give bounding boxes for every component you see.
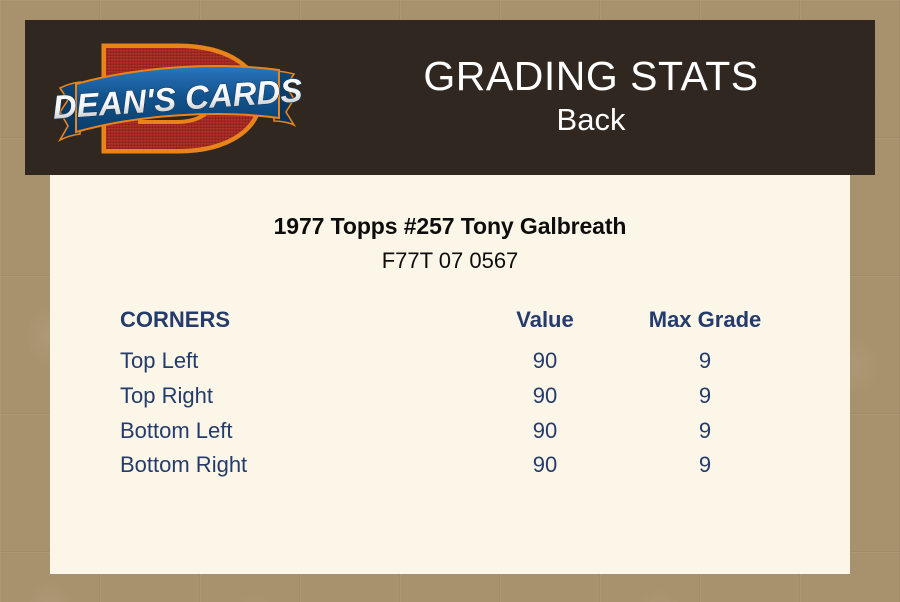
- row-label: Top Right: [120, 379, 460, 414]
- row-label: Top Left: [120, 344, 460, 379]
- row-value: 90: [460, 448, 630, 483]
- grading-stats-table: CORNERS Value Max Grade Top Left 90 9 To…: [120, 307, 780, 483]
- table-row: Top Left 90 9: [120, 344, 780, 379]
- table-header-row: CORNERS Value Max Grade: [120, 307, 780, 344]
- column-header-max-grade: Max Grade: [630, 307, 780, 344]
- deans-cards-logo: DEAN'S CARDS: [50, 26, 305, 171]
- header-title-group: GRADING STATS Back: [325, 20, 875, 175]
- page-title: GRADING STATS: [423, 55, 758, 98]
- table-row: Bottom Right 90 9: [120, 448, 780, 483]
- row-label: Bottom Left: [120, 414, 460, 449]
- table-row: Bottom Left 90 9: [120, 414, 780, 449]
- column-header-value: Value: [460, 307, 630, 344]
- content-panel: 1977 Topps #257 Tony Galbreath F77T 07 0…: [50, 175, 850, 574]
- row-max-grade: 9: [630, 379, 780, 414]
- card-title: 1977 Topps #257 Tony Galbreath: [50, 213, 850, 240]
- page-subtitle: Back: [557, 101, 626, 140]
- card-serial-number: F77T 07 0567: [50, 248, 850, 274]
- row-max-grade: 9: [630, 448, 780, 483]
- header-band: DEAN'S CARDS GRADING STATS Back: [25, 20, 875, 175]
- table-body: Top Left 90 9 Top Right 90 9 Bottom Left…: [120, 344, 780, 483]
- row-max-grade: 9: [630, 344, 780, 379]
- row-value: 90: [460, 379, 630, 414]
- row-value: 90: [460, 414, 630, 449]
- logo-graphic: DEAN'S CARDS: [50, 26, 305, 171]
- row-value: 90: [460, 344, 630, 379]
- column-header-section: CORNERS: [120, 307, 460, 344]
- table-row: Top Right 90 9: [120, 379, 780, 414]
- row-label: Bottom Right: [120, 448, 460, 483]
- row-max-grade: 9: [630, 414, 780, 449]
- table-header: CORNERS Value Max Grade: [120, 307, 780, 344]
